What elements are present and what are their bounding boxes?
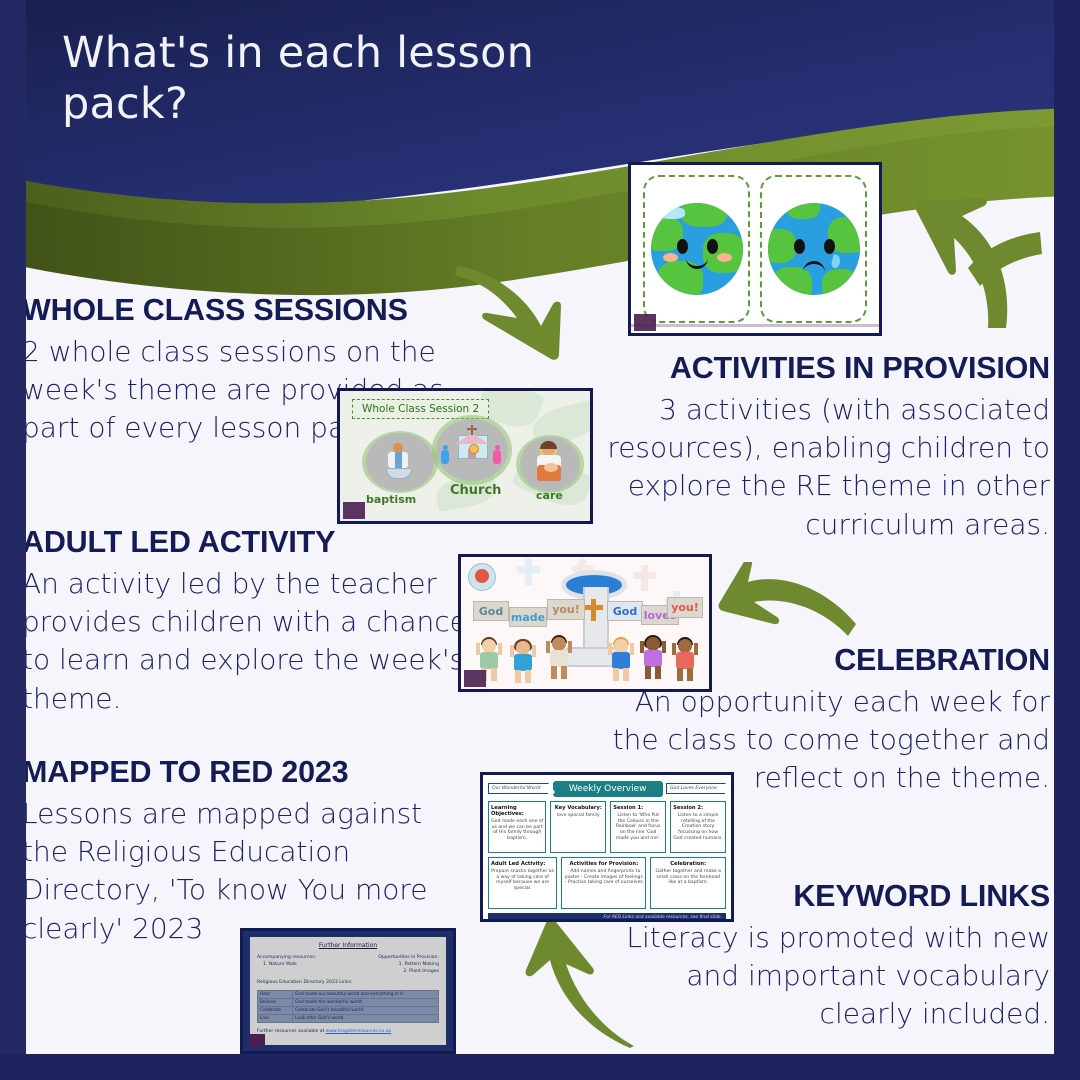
chip-god-loves-everyone: God Loves Everyone [666, 783, 726, 794]
block-mapped-to-red-2023: MAPPED TO RED 2023 Lessons are mapped ag… [22, 756, 472, 948]
cross-icon [591, 599, 596, 621]
publisher-logo [249, 1034, 265, 1047]
globe-sad-icon [768, 203, 860, 295]
table-cell-value: God made the wonderful world. [293, 999, 439, 1007]
arrow-left-icon [718, 562, 858, 667]
body-keyword-links: Literacy is promoted with new and import… [600, 919, 1050, 1034]
thumbnail-god-loves-you[interactable]: God made you! God loves you! [458, 554, 712, 692]
heading-activities-in-provision: ACTIVITIES IN PROVISION [590, 352, 1050, 386]
table-row: Believe God made the wonderful world. [258, 999, 439, 1007]
cell-title: Session 1: [613, 805, 663, 811]
heading-adult-led-activity: ADULT LED ACTIVITY [22, 526, 482, 560]
globe-card-happy [643, 175, 750, 323]
cell-title: Adult Led Activity: [491, 861, 554, 867]
weekly-overview-row-1: Learning Objectives: God made each one o… [488, 801, 726, 853]
list-item: 2. Plant Images [378, 969, 439, 974]
arrow-up-left-icon [888, 190, 1023, 335]
weekly-overview-footer: For RED Links and available resources, s… [488, 913, 726, 922]
table-cell-key: Believe [258, 999, 293, 1007]
arrow-down-right-icon [455, 258, 585, 378]
table-row: Celebrate Celebrate God's beautiful worl… [258, 1007, 439, 1015]
globe-card-sad [760, 175, 867, 323]
cell-title: Celebration: [653, 861, 723, 867]
thumbnail-whole-class-session[interactable]: Whole Class Session 2 baptism [337, 388, 593, 524]
further-resources-link[interactable]: www.magisteresources.co.uk [326, 1029, 391, 1034]
cell-key-vocabulary: Key Vocabulary: love special family [550, 801, 606, 853]
thumbnail-further-information[interactable]: Further Information Accompanying resourc… [240, 928, 456, 1054]
wcs-label-church: Church [450, 483, 501, 498]
body-activities-in-provision: 3 activities (with associated resources)… [590, 391, 1050, 544]
cell-activities-for-provision: Activities for Provision: - Add names an… [561, 857, 646, 909]
table-cell-value: Celebrate God's beautiful world. [293, 1007, 439, 1015]
publisher-logo [343, 502, 365, 519]
child-figure [547, 633, 571, 679]
wcs-label-care: care [536, 489, 563, 502]
poster-root: What's in each lesson pack? WHOLE CLASS … [0, 0, 1080, 1080]
sign-god-left: God [473, 601, 509, 621]
further-info-right-column: Opportunities in Provision: 1. Pattern M… [378, 955, 439, 976]
further-info-sheet: Further Information Accompanying resourc… [250, 937, 446, 1045]
god-slide-body: God made you! God loves you! [461, 557, 709, 689]
baptismal-font-stem [583, 587, 609, 649]
weekly-overview-banner: Weekly Overview [553, 781, 663, 797]
table-cell-key: Live [258, 1015, 293, 1023]
publisher-logo [634, 314, 656, 331]
thumbnail-emotion-globe-cards[interactable] [628, 162, 882, 336]
heading-whole-class-sessions: WHOLE CLASS SESSIONS [22, 294, 492, 328]
cell-adult-led-activity: Adult Led Activity: Prepare snacks toget… [488, 857, 557, 909]
cell-session-2: Session 2: Listen to a simple retelling … [670, 801, 726, 853]
weekly-overview-header: Our Wonderful World Weekly Overview God … [488, 780, 726, 797]
church-illustration [452, 425, 492, 459]
jesus-care-illustration [532, 441, 568, 485]
weekly-overview-body: Our Wonderful World Weekly Overview God … [483, 775, 731, 919]
weekly-overview-row-2: Adult Led Activity: Prepare snacks toget… [488, 857, 726, 909]
cell-text: - Add names and fingerprints to poster -… [564, 869, 643, 886]
further-info-title: Further Information [257, 942, 439, 949]
block-adult-led-activity: ADULT LED ACTIVITY An activity led by th… [22, 526, 482, 718]
cell-text: Prepare snacks together as a way of taki… [491, 869, 554, 892]
thumbnail-weekly-overview[interactable]: Our Wonderful World Weekly Overview God … [480, 772, 734, 922]
body-adult-led-activity: An activity led by the teacher provides … [22, 565, 482, 718]
table-cell-key: Celebrate [258, 1007, 293, 1015]
further-resources-text: Further resources available at [257, 1029, 326, 1034]
slide-divider [631, 324, 879, 327]
table-row: Live Look after God's world. [258, 1015, 439, 1023]
poster-bottom-border [0, 1054, 1080, 1080]
poster-right-border [1054, 0, 1080, 1080]
cell-celebration: Celebration: Gather together and make a … [650, 857, 726, 909]
cell-text: love special family [553, 813, 603, 819]
wcs-slide-body: Whole Class Session 2 baptism [340, 391, 590, 521]
cell-text: God made each one of us and we can be pa… [491, 819, 543, 842]
red-links-table: Hear God made our beautiful world and ev… [257, 990, 439, 1023]
further-info-columns: Accompanying resources: 1. Nature Walk O… [257, 955, 439, 976]
sign-god-right: God [607, 601, 643, 621]
further-info-slide: Further Information Accompanying resourc… [243, 931, 453, 1051]
chip-our-wonderful-world: Our Wonderful World [488, 783, 549, 794]
globe-happy-icon [651, 203, 743, 295]
child-figure [609, 635, 633, 681]
list-item: Accompanying resources: [257, 955, 316, 960]
cell-text: Gather together and make a small cross o… [653, 869, 723, 886]
block-activities-in-provision: ACTIVITIES IN PROVISION 3 activities (wi… [590, 352, 1050, 544]
child-figure [641, 633, 665, 679]
person-blue-icon [440, 445, 450, 465]
table-cell-key: Hear [258, 991, 293, 999]
further-resources-line: Further resources available at www.magis… [257, 1029, 439, 1034]
poster-left-border [0, 0, 26, 1080]
body-mapped-to-red-2023: Lessons are mapped against the Religious… [22, 795, 472, 948]
table-cell-value: Look after God's world. [293, 1015, 439, 1023]
sign-you-right: you! [667, 597, 703, 618]
sign-made: made [509, 607, 547, 627]
page-title: What's in each lesson pack? [62, 28, 622, 129]
cell-session-1: Session 1: Listen to 'Who Put the Colour… [610, 801, 666, 853]
cell-learning-objectives: Learning Objectives: God made each one o… [488, 801, 546, 853]
wcs-label-baptism: baptism [366, 493, 416, 506]
list-item: 1. Pattern Making [378, 962, 439, 967]
table-row: Hear God made our beautiful world and ev… [258, 991, 439, 999]
sign-you-left: you! [547, 599, 585, 620]
publisher-logo [464, 670, 486, 687]
globe-cards-container [631, 165, 879, 333]
list-item: Opportunities in Provision: [378, 955, 439, 960]
cell-text: Listen to a simple retelling of the Crea… [673, 813, 723, 842]
cell-title: Key Vocabulary: [553, 805, 603, 811]
cell-text: Listen to 'Who Put the Colours in the Ra… [613, 813, 663, 842]
baptism-illustration [384, 443, 414, 481]
child-figure [673, 635, 697, 681]
list-item: 1. Nature Walk [263, 962, 316, 967]
cell-title: Activities for Provision: [564, 861, 643, 867]
avatar [468, 563, 496, 591]
person-pink-icon [492, 445, 502, 465]
cell-title: Learning Objectives: [491, 805, 543, 817]
table-cell-value: God made our beautiful world and everyth… [293, 991, 439, 999]
cell-title: Session 2: [673, 805, 723, 811]
heading-mapped-to-red-2023: MAPPED TO RED 2023 [22, 756, 472, 790]
further-info-left-column: Accompanying resources: 1. Nature Walk [257, 955, 316, 976]
red-links-label: Religious Education Directory 2023 Links… [257, 980, 439, 985]
child-figure [511, 637, 535, 683]
